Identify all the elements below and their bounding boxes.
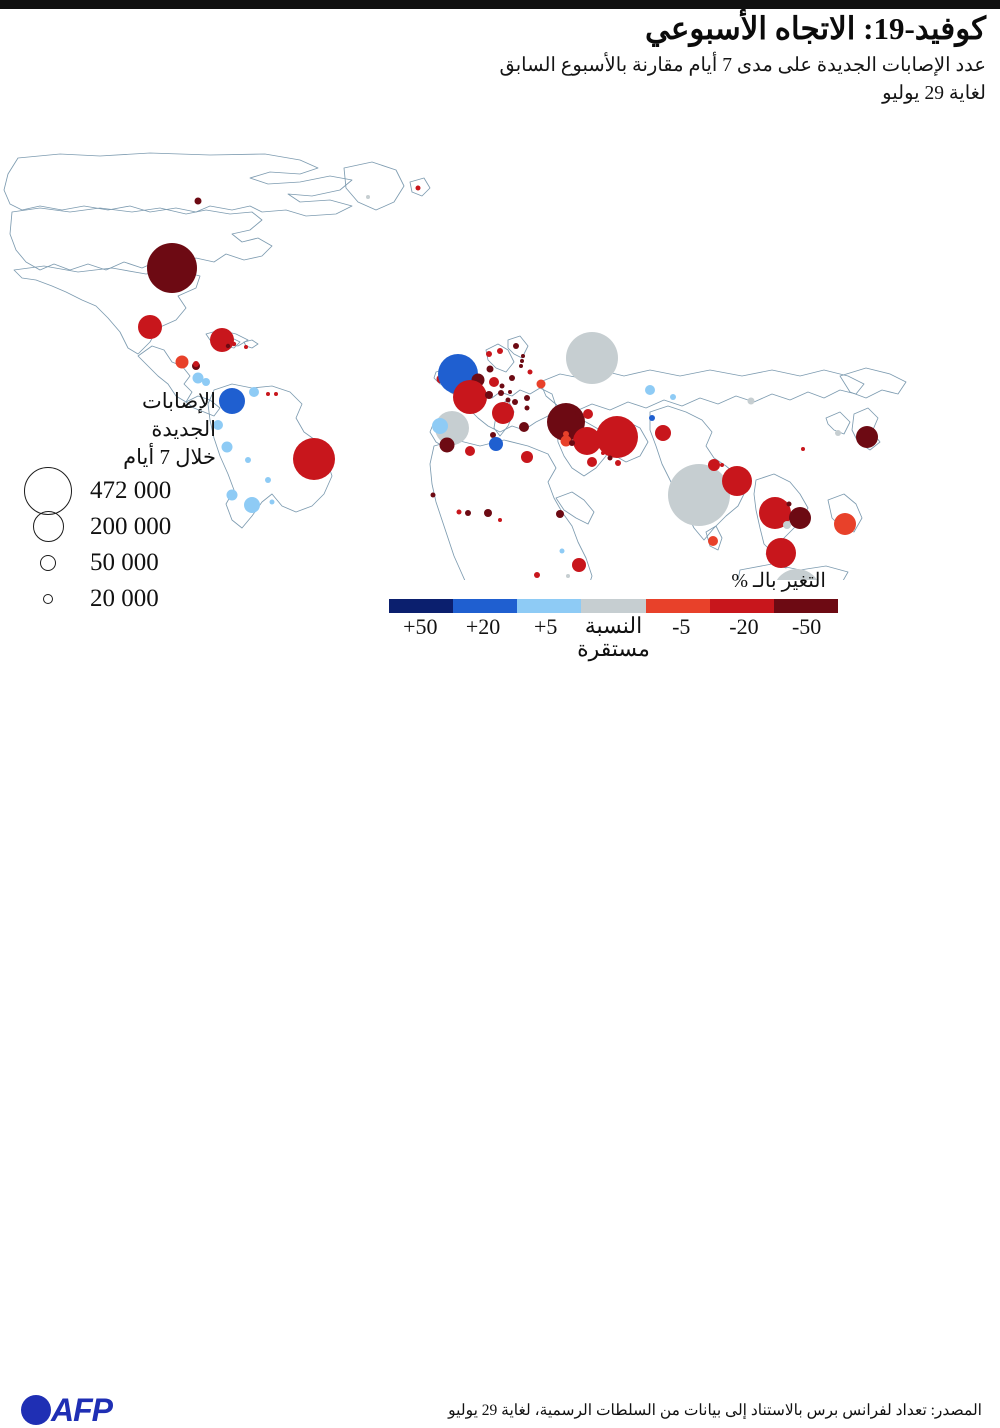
- map-bubble: [498, 390, 504, 396]
- map-bubble: [193, 373, 204, 384]
- size-legend-circle-icon: [33, 511, 64, 542]
- map-bubble: [227, 490, 238, 501]
- map-bubble: [457, 510, 462, 515]
- map-bubble: [649, 415, 655, 421]
- color-bar-segment: [517, 599, 581, 613]
- map-bubble: [506, 398, 511, 403]
- map-bubble: [591, 444, 596, 449]
- map-bubble: [520, 359, 524, 363]
- page-subtitle: عدد الإصابات الجديدة على مدى 7 أيام مقار…: [286, 54, 986, 78]
- size-legend-circle-cell: [12, 555, 84, 571]
- map-bubble: [498, 518, 502, 522]
- size-legend-label: 200 000: [84, 513, 216, 541]
- size-legend-circle-icon: [40, 555, 56, 571]
- map-bubble: [138, 315, 162, 339]
- footer: AFP المصدر: تعداد لفرانس برس بالاستناد إ…: [0, 694, 1000, 743]
- map-bubble: [708, 459, 720, 471]
- map-bubble: [497, 348, 503, 354]
- map-bubble: [748, 398, 755, 405]
- color-bar-label: -20: [713, 614, 776, 660]
- map-bubble: [668, 464, 730, 526]
- size-legend-circle-icon: [43, 594, 53, 604]
- map-bubble: [856, 426, 878, 448]
- size-legend-title: الإصابات الجديدة خلال 7 أيام: [6, 388, 216, 472]
- map-bubble: [465, 510, 471, 516]
- title-block: كوفيد-19: الاتجاه الأسبوعي عدد الإصابات …: [286, 12, 986, 106]
- source-note: المصدر: تعداد لفرانس برس بالاستناد إلى ب…: [448, 1401, 982, 1420]
- color-bar-segment: [774, 599, 838, 613]
- map-bubble: [489, 377, 499, 387]
- map-bubble: [245, 457, 251, 463]
- map-bubble: [222, 442, 233, 453]
- map-bubble: [519, 364, 523, 368]
- color-bar-label: -5: [650, 614, 713, 660]
- map-bubble: [512, 399, 518, 405]
- map-bubble: [789, 507, 811, 529]
- map-bubble: [608, 456, 613, 461]
- map-bubble: [226, 344, 230, 348]
- map-bubble: [579, 414, 583, 418]
- size-legend-label: 20 000: [84, 585, 216, 613]
- map-bubble: [486, 351, 492, 357]
- map-bubble: [524, 395, 530, 401]
- map-bubble: [244, 345, 248, 349]
- map-bubble: [513, 343, 519, 349]
- map-bubble: [210, 328, 234, 352]
- color-bar-label: +50: [389, 614, 452, 660]
- map-bubble: [147, 243, 197, 293]
- map-bubble: [219, 388, 245, 414]
- as-of-date: لغاية 29 يوليو: [286, 82, 986, 106]
- map-bubble: [601, 451, 605, 455]
- afp-logo-text: AFP: [51, 1394, 112, 1426]
- map-bubble: [492, 402, 514, 424]
- size-legend-circle-cell: [12, 511, 84, 542]
- map-bubble: [431, 493, 436, 498]
- map-bubble: [266, 392, 270, 396]
- map-bubble: [722, 466, 752, 496]
- color-bar-labels: +50+20+5النسبةمستقرة-5-20-50: [389, 614, 838, 660]
- color-bar: [389, 599, 838, 613]
- size-legend-row: 20 000: [6, 582, 216, 616]
- map-bubble: [265, 477, 271, 483]
- color-bar-segment: [710, 599, 774, 613]
- map-bubble: [560, 549, 565, 554]
- map-bubble: [176, 356, 189, 369]
- size-legend: الإصابات الجديدة خلال 7 أيام 472 000200 …: [6, 388, 216, 616]
- color-bar-label: +5: [514, 614, 577, 660]
- size-legend-title-line-1: الإصابات: [6, 388, 216, 416]
- map-bubble: [489, 437, 503, 451]
- color-bar-segment: [581, 599, 645, 613]
- map-bubble: [416, 186, 421, 191]
- map-bubble: [244, 497, 260, 513]
- map-bubble: [525, 406, 530, 411]
- page-title: كوفيد-19: الاتجاه الأسبوعي: [286, 12, 986, 47]
- size-legend-title-line-2: الجديدة: [6, 416, 216, 444]
- color-scale-legend: التغير بالـ % +50+20+5النسبةمستقرة-5-20-…: [383, 568, 838, 660]
- color-bar-segment: [453, 599, 517, 613]
- color-bar-label: النسبةمستقرة: [577, 614, 650, 660]
- map-bubble: [293, 438, 335, 480]
- map-bubble: [720, 463, 724, 467]
- size-legend-label: 472 000: [84, 477, 216, 505]
- map-bubble: [801, 447, 805, 451]
- map-bubble: [509, 375, 515, 381]
- color-bar-label: +20: [452, 614, 515, 660]
- map-bubble: [587, 457, 597, 467]
- size-legend-row: 200 000: [6, 510, 216, 544]
- color-bar-label: -50: [775, 614, 838, 660]
- map-bubble: [834, 513, 856, 535]
- map-bubble: [655, 425, 671, 441]
- map-bubble: [453, 380, 487, 414]
- size-legend-circle-cell: [12, 467, 84, 515]
- map-bubble: [500, 384, 505, 389]
- map-bubble: [583, 409, 593, 419]
- color-scale-title: التغير بالـ %: [383, 568, 838, 593]
- stable-label-line-1: النسبة: [577, 614, 650, 637]
- map-bubble: [615, 460, 621, 466]
- map-bubble: [556, 510, 564, 518]
- map-bubble: [645, 385, 655, 395]
- map-bubble: [249, 387, 259, 397]
- map-bubble: [484, 509, 492, 517]
- size-legend-row: 50 000: [6, 546, 216, 580]
- afp-logo-circle-icon: [21, 1395, 51, 1425]
- map-bubble: [537, 380, 546, 389]
- bubbles-layer: [138, 186, 921, 581]
- map-bubble: [465, 446, 475, 456]
- top-black-bar: [0, 0, 1000, 9]
- map-bubble: [835, 430, 841, 436]
- map-bubble: [569, 440, 575, 446]
- map-bubble: [274, 392, 278, 396]
- map-bubble: [508, 390, 512, 394]
- map-bubble: [487, 366, 494, 373]
- map-bubble: [485, 391, 493, 399]
- size-legend-circle-cell: [12, 594, 84, 604]
- map-bubble: [519, 422, 529, 432]
- map-bubble: [670, 394, 676, 400]
- map-bubble: [270, 500, 275, 505]
- size-legend-circle-icon: [24, 467, 72, 515]
- map-bubble: [195, 198, 202, 205]
- map-bubble: [528, 370, 533, 375]
- map-bubble: [521, 354, 525, 358]
- map-bubble: [787, 502, 792, 507]
- map-bubble: [766, 538, 796, 568]
- map-bubble: [432, 418, 448, 434]
- map-bubble: [202, 378, 210, 386]
- afp-logo: AFP: [24, 1394, 112, 1426]
- stable-label-line-2: مستقرة: [577, 637, 650, 660]
- size-legend-rows: 472 000200 00050 00020 000: [6, 474, 216, 616]
- color-bar-segment: [389, 599, 453, 613]
- map-bubble: [440, 438, 455, 453]
- map-bubble: [521, 451, 533, 463]
- map-bubble: [366, 195, 370, 199]
- map-bubble: [783, 521, 791, 529]
- size-legend-row: 472 000: [6, 474, 216, 508]
- color-bar-segment: [646, 599, 710, 613]
- map-bubble: [193, 361, 199, 367]
- size-legend-label: 50 000: [84, 549, 216, 577]
- map-bubble: [232, 342, 236, 346]
- map-bubble: [708, 536, 718, 546]
- map-bubble: [566, 332, 618, 384]
